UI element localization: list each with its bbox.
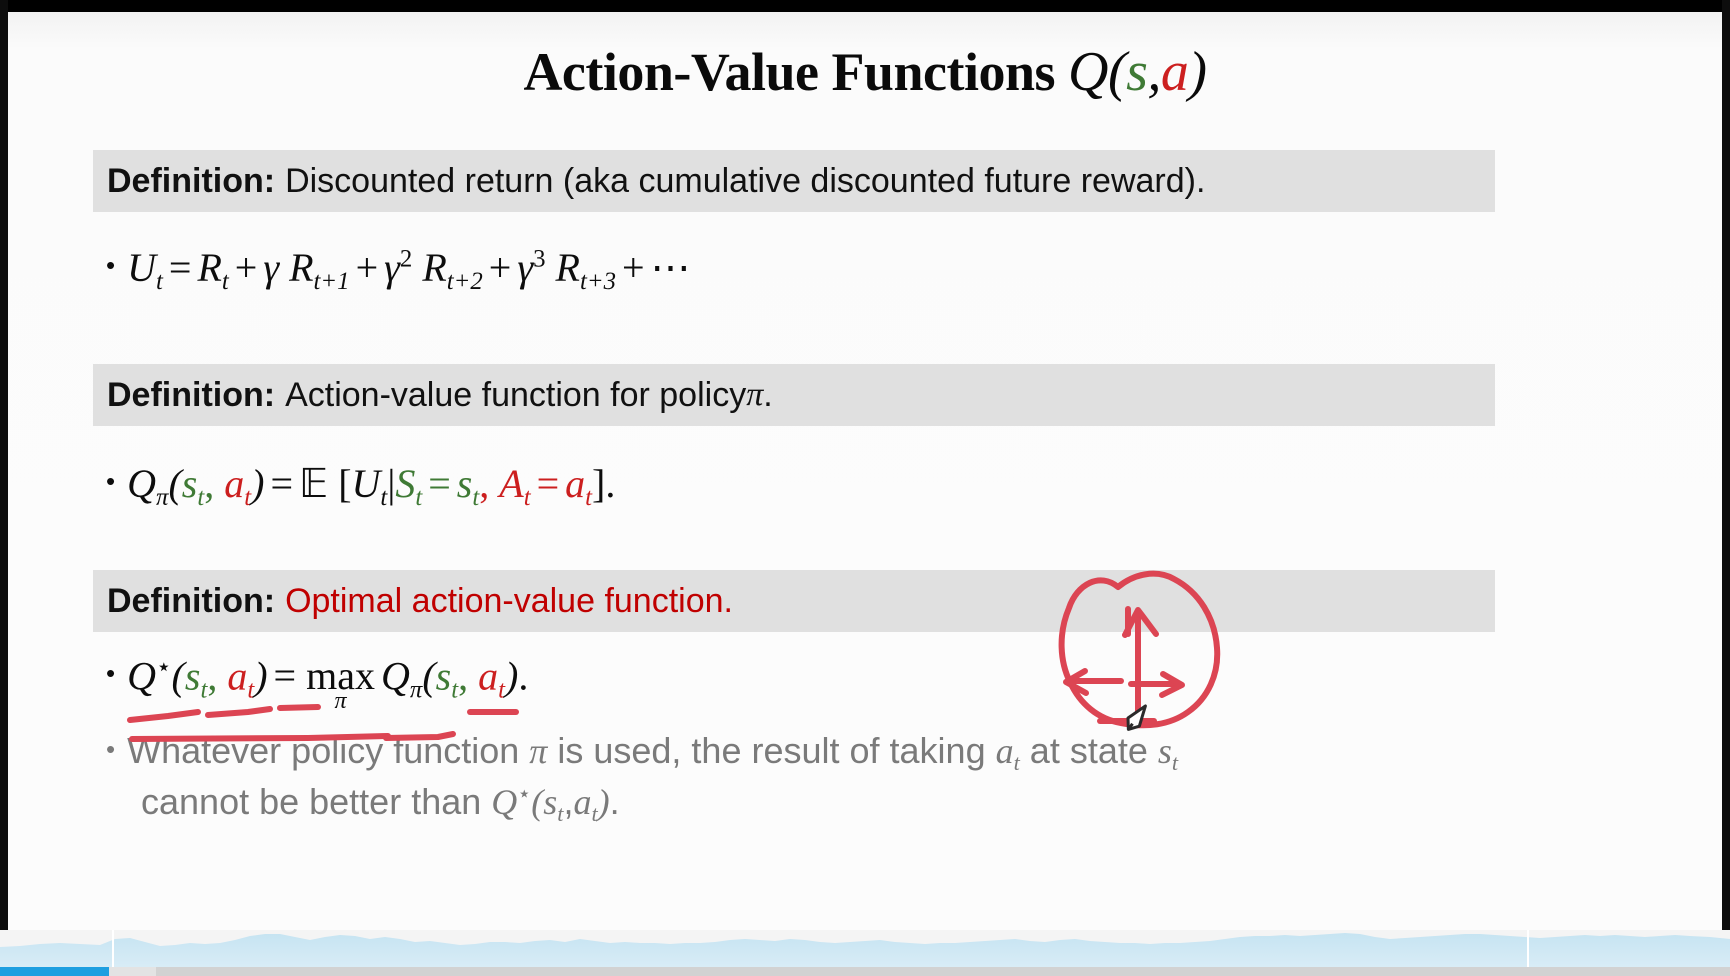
formula3-Q-pi: Q (381, 653, 410, 698)
definition-banner-optimal-action-value: Definition: Optimal action-value functio… (93, 570, 1495, 632)
formula2-comma-1: , (204, 461, 224, 506)
formula1-plus-1: + (229, 245, 264, 290)
formula-action-value-function: •Qπ(st, at)=𝔼 [Ut|St=st, At=at]. (106, 460, 615, 512)
formula1-R0-sub: t (222, 268, 229, 295)
note-line1-mid: is used, the result of taking (547, 730, 995, 771)
note-state-symbol-sub: t (1172, 750, 1178, 775)
definition-text: Action-value function for policy (285, 376, 746, 415)
formula3-paren-open: ( (172, 653, 185, 698)
formula3-state: s (185, 653, 201, 698)
formula1-gamma-2: γ (384, 245, 400, 290)
underline-s-t (208, 709, 270, 715)
formula3-max-operator: maxπ (306, 652, 375, 699)
right-arrow-head-icon (1162, 674, 1182, 695)
formula2-action-2-sub: t (585, 484, 592, 511)
title-action-var: a (1161, 41, 1189, 103)
note-comma: , (563, 781, 573, 822)
formula2-equals: = (264, 461, 299, 506)
title-formula: Q(s,a) (1068, 41, 1207, 103)
formula-optimal-action-value: •Q⋆(st, at)=maxπQπ(st, at). (106, 652, 528, 704)
definition-banner-action-value: Definition: Action-value function for po… (93, 364, 1495, 426)
formula2-Q: Q (127, 461, 156, 506)
note-q-symbol: Q (491, 782, 517, 822)
note-state-symbol: s (1158, 731, 1172, 771)
formula1-U: U (127, 245, 156, 290)
explanatory-note: •Whatever policy function π is used, the… (106, 727, 1526, 830)
formula-discounted-return: •Ut=Rt+γ Rt+1+γ2 Rt+2+γ3 Rt+3+⋯ (106, 244, 691, 296)
formula1-R1-sub: t+1 (314, 268, 350, 295)
title-paren-close: ) (1188, 41, 1206, 103)
definition-period: . (763, 376, 772, 415)
bullet-icon: • (106, 658, 115, 688)
video-player-screen: Action-Value Functions Q(s,a) Definition… (0, 0, 1730, 976)
audio-waveform[interactable] (0, 930, 1730, 967)
formula1-gamma-3-exp: 3 (533, 246, 545, 273)
title-paren-open: ( (1108, 41, 1126, 103)
letterbox-top (0, 0, 1730, 12)
progress-bar-fill[interactable] (0, 967, 109, 976)
definition-text: Optimal action-value function. (285, 582, 733, 621)
formula2-U: U (352, 461, 381, 506)
formula2-Q-sub: π (156, 484, 168, 511)
note-line2-pre: cannot be better than (141, 781, 491, 822)
formula2-action: a (224, 461, 244, 506)
formula3-max-subscript: π (306, 688, 375, 715)
formula2-equals-2: = (422, 461, 457, 506)
formula1-plus-4: + (616, 245, 651, 290)
page-title: Action-Value Functions Q(s,a) (8, 40, 1722, 104)
title-comma: , (1147, 41, 1161, 103)
note-line1-pre: Whatever policy function (127, 730, 529, 771)
progress-bar-track[interactable] (0, 967, 1730, 976)
title-q-symbol: Q (1068, 41, 1108, 103)
formula1-plus-3: + (483, 245, 518, 290)
formula2-bracket-open: [ (338, 461, 351, 506)
star-icon: ⋆ (156, 654, 172, 681)
formula3-paren2-close: ) (505, 653, 518, 698)
formula3-paren-close: ) (254, 653, 267, 698)
formula3-action-2-sub: t (498, 676, 505, 703)
bullet-icon: • (106, 466, 115, 496)
formula3-comma: , (207, 653, 227, 698)
note-policy-symbol: π (529, 731, 547, 771)
formula1-R2-sub: t+2 (447, 268, 483, 295)
formula1-plus-2: + (350, 245, 385, 290)
formula1-R3-sub: t+3 (580, 268, 616, 295)
letterbox-right (1722, 0, 1730, 976)
formula1-R3: R (556, 245, 580, 290)
formula3-action: a (227, 653, 247, 698)
note-line2-post: . (610, 781, 620, 822)
note-action-symbol: a (996, 731, 1014, 771)
formula3-action-2: a (478, 653, 498, 698)
formula1-U-sub: t (156, 268, 163, 295)
formula1-ellipsis: ⋯ (651, 245, 691, 290)
note-line2: cannot be better than Q⋆(st,at). (106, 778, 1526, 829)
definition-label: Definition: (107, 162, 275, 201)
left-arrow-head-icon (1066, 671, 1086, 693)
note-state-2: s (543, 782, 557, 822)
formula2-paren-close: ) (251, 461, 264, 506)
formula3-comma-2: , (458, 653, 478, 698)
formula3-equals: = (268, 653, 303, 698)
bullet-icon: • (106, 734, 115, 764)
formula2-A-rv: A (499, 461, 523, 506)
formula1-gamma-1: γ (263, 245, 279, 290)
definition-policy-symbol: π (746, 376, 763, 414)
note-line1-post: at state (1020, 730, 1158, 771)
bullet-icon: • (106, 250, 115, 280)
formula2-action-2: a (565, 461, 585, 506)
title-state-var: s (1126, 41, 1147, 103)
page-title-text: Action-Value Functions (523, 42, 1055, 102)
formula3-period: . (518, 653, 528, 698)
note-paren-close: ) (598, 782, 610, 822)
letterbox-left (0, 0, 8, 976)
star-icon: ⋆ (517, 781, 531, 806)
formula3-paren2-open: ( (422, 653, 435, 698)
formula2-expectation-symbol: 𝔼 (299, 461, 328, 506)
definition-label: Definition: (107, 582, 275, 621)
note-action-2: a (573, 782, 591, 822)
formula3-Q: Q (127, 653, 156, 698)
definition-banner-discounted-return: Definition: Discounted return (aka cumul… (93, 150, 1495, 212)
formula2-equals-3: = (531, 461, 566, 506)
formula2-paren-open: ( (168, 461, 181, 506)
formula1-R1: R (289, 245, 313, 290)
formula2-state-2: s (457, 461, 473, 506)
formula1-R0: R (197, 245, 221, 290)
waveform-shape (0, 933, 1730, 967)
formula1-equals: = (163, 245, 198, 290)
formula2-comma-2: , (479, 461, 499, 506)
formula1-R2: R (422, 245, 446, 290)
formula1-gamma-2-exp: 2 (400, 246, 412, 273)
note-paren-open: ( (531, 782, 543, 822)
video-player-controls[interactable] (0, 930, 1730, 976)
underline-q-star (130, 712, 198, 720)
formula2-A-rv-sub: t (524, 484, 531, 511)
definition-label: Definition: (107, 376, 275, 415)
definition-text: Discounted return (aka cumulative discou… (285, 162, 1205, 201)
lecture-slide: Action-Value Functions Q(s,a) Definition… (8, 12, 1722, 930)
formula3-state-2: s (436, 653, 452, 698)
formula2-bracket-close: ] (592, 461, 605, 506)
formula3-Q-pi-sub: π (410, 676, 422, 703)
formula1-gamma-3: γ (517, 245, 533, 290)
formula2-S-rv: S (395, 461, 415, 506)
formula2-period: . (605, 461, 615, 506)
formula2-state: s (182, 461, 198, 506)
